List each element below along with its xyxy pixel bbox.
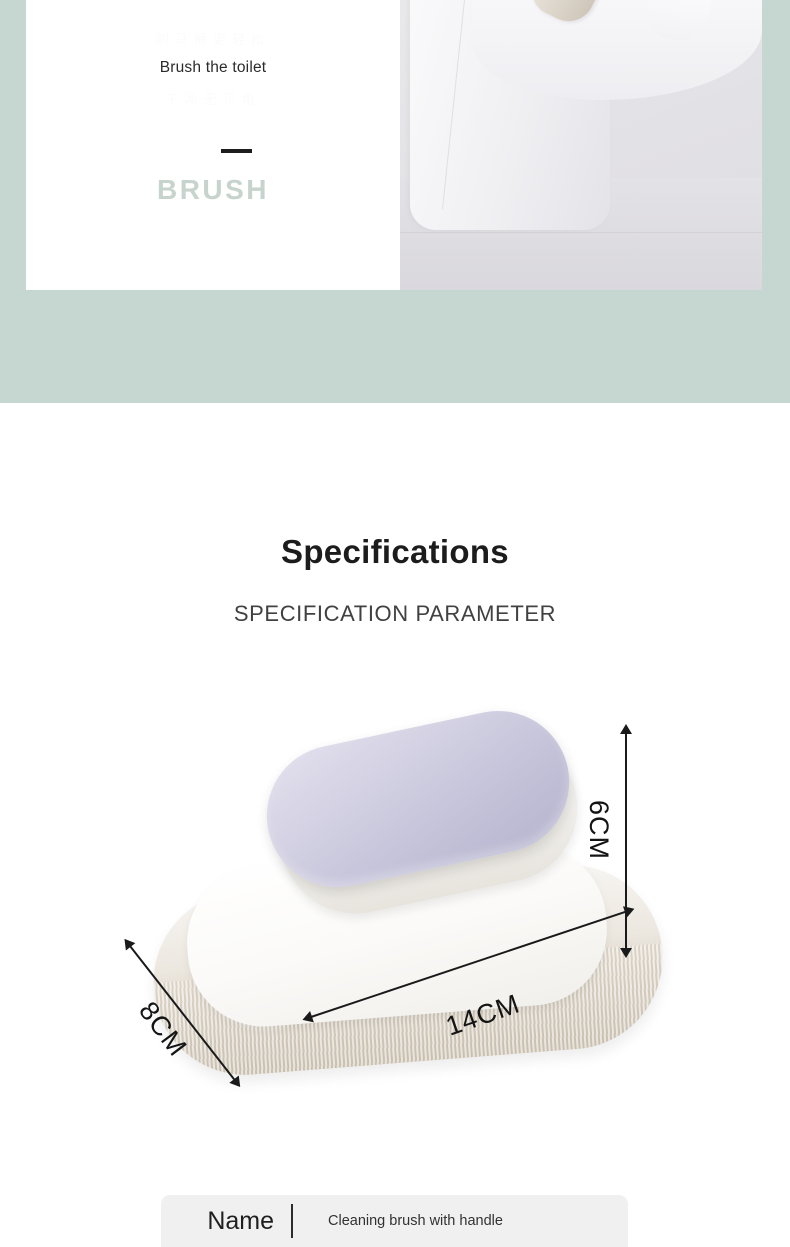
table-row: Name Cleaning brush with handle bbox=[161, 1195, 628, 1247]
dimension-label-height: 6CM bbox=[583, 800, 614, 860]
step-photo bbox=[400, 0, 762, 290]
step-caption: Brush the toilet bbox=[26, 60, 400, 76]
step-card: 05 刷马桶更轻松 Brush the toilet 干净无死角 BRUSH bbox=[26, 0, 762, 290]
step-divider-rule bbox=[221, 149, 252, 153]
specification-table: Name Cleaning brush with handle bbox=[161, 1195, 628, 1247]
specifications-subtitle: SPECIFICATION PARAMETER bbox=[0, 603, 790, 625]
specifications-title: Specifications bbox=[0, 535, 790, 568]
spec-value-name: Cleaning brush with handle bbox=[293, 1214, 503, 1229]
step-ghost-text-top: 刷马桶更轻松 bbox=[26, 33, 400, 46]
product-dimension-diagram: 6CM 14CM 8CM bbox=[95, 710, 695, 1130]
step-card-text-column: 05 刷马桶更轻松 Brush the toilet 干净无死角 BRUSH bbox=[26, 0, 400, 290]
photo-floor-line bbox=[400, 232, 762, 233]
spec-key-name: Name bbox=[161, 1209, 291, 1234]
step-number: 05 bbox=[26, 0, 400, 1]
green-band-section: 05 刷马桶更轻松 Brush the toilet 干净无死角 BRUSH bbox=[0, 0, 790, 403]
step-ghost-text-bottom: 干净无死角 bbox=[26, 93, 400, 106]
product-detail-page: 05 刷马桶更轻松 Brush the toilet 干净无死角 BRUSH bbox=[0, 0, 790, 1247]
step-keyword: BRUSH bbox=[26, 176, 400, 204]
